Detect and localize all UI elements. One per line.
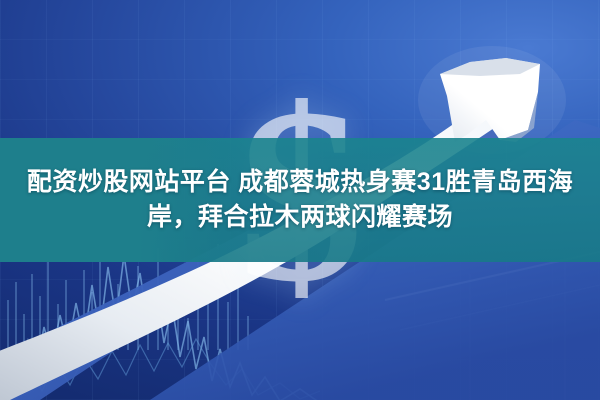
headline-block: 配资炒股网站平台 成都蓉城热身赛31胜青岛西海 岸，拜合拉木两球闪耀赛场	[0, 138, 600, 262]
headline-line-1: 配资炒股网站平台 成都蓉城热身赛31胜青岛西海	[27, 166, 573, 200]
banner-image: $ 配资炒股网站平台 成都蓉城热身赛31胜青岛西海 岸，拜合拉木两球闪耀赛场	[0, 0, 600, 400]
headline-line-2: 岸，拜合拉木两球闪耀赛场	[147, 201, 453, 235]
